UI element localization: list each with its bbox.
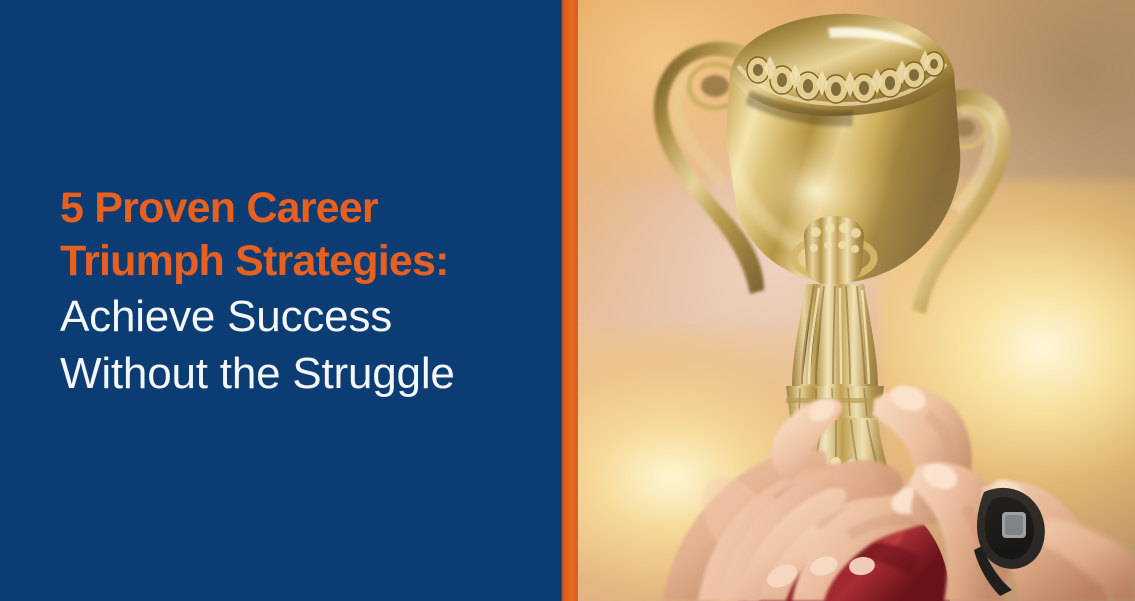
raised-hands-icon (578, 0, 1135, 601)
headline-block: 5 Proven Career Triumph Strategies: Achi… (60, 182, 540, 402)
headline-line-1: 5 Proven Career (60, 182, 540, 235)
headline-line-3: Achieve Success (60, 288, 540, 345)
orange-divider-stripe (561, 0, 578, 601)
trophy-photo-panel (578, 0, 1135, 601)
headline-line-2: Triumph Strategies: (60, 235, 540, 288)
left-text-panel: 5 Proven Career Triumph Strategies: Achi… (0, 0, 561, 601)
hero-banner: 5 Proven Career Triumph Strategies: Achi… (0, 0, 1135, 601)
headline-line-4: Without the Struggle (60, 345, 540, 402)
